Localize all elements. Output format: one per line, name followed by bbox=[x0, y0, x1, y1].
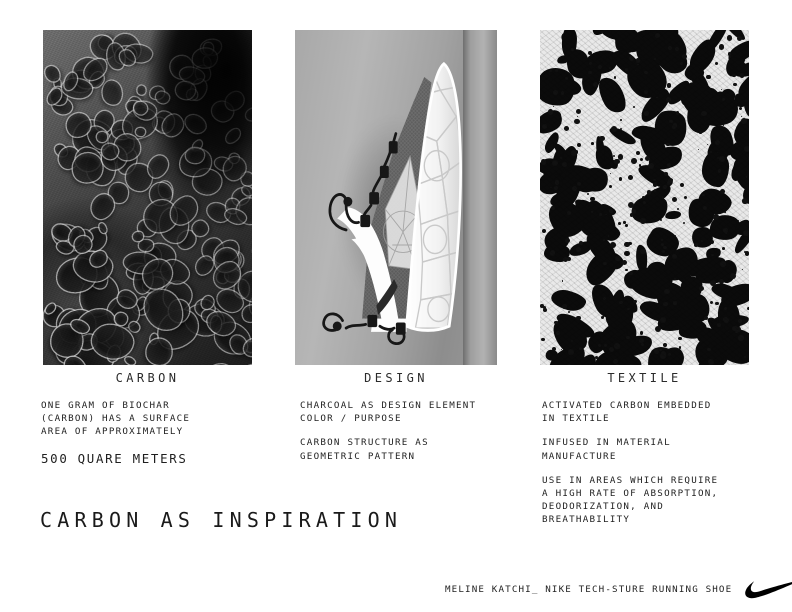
copy-block: USE IN AREAS WHICH REQUIREA HIGH RATE OF… bbox=[542, 474, 718, 527]
copy-line: COLOR / PURPOSE bbox=[300, 412, 476, 425]
image-activated-carbon-textile-macro bbox=[540, 30, 749, 365]
textile-weave-overlay bbox=[540, 30, 749, 365]
caption-carbon: CARBON bbox=[43, 371, 252, 385]
copy-column-design: CHARCOAL AS DESIGN ELEMENTCOLOR / PURPOS… bbox=[300, 399, 476, 463]
copy-line: ACTIVATED CARBON EMBEDDED bbox=[542, 399, 718, 412]
copy-line: INFUSED IN MATERIAL bbox=[542, 436, 718, 449]
copy-line: USE IN AREAS WHICH REQUIRE bbox=[542, 474, 718, 487]
copy-block: ACTIVATED CARBON EMBEDDEDIN TEXTILE bbox=[542, 399, 718, 425]
image-sem-micrograph-biochar bbox=[43, 30, 252, 365]
copy-block: INFUSED IN MATERIALMANUFACTURE bbox=[542, 436, 718, 462]
footer-credit: MELINE KATCHI_ NIKE TECH-STURE RUNNING S… bbox=[445, 584, 732, 595]
copy-line: IN TEXTILE bbox=[542, 412, 718, 425]
copy-line: DEODORIZATION, AND bbox=[542, 500, 718, 513]
image-shoe-render-lattice bbox=[295, 30, 497, 365]
copy-line: MANUFACTURE bbox=[542, 450, 718, 463]
caption-textile: TEXTILE bbox=[540, 371, 749, 385]
copy-block: ONE GRAM OF BIOCHAR(CARBON) HAS A SURFAC… bbox=[41, 399, 190, 439]
copy-line: (CARBON) HAS A SURFACE bbox=[41, 412, 190, 425]
sem-grain-overlay bbox=[43, 30, 252, 365]
copy-line: GEOMETRIC PATTERN bbox=[300, 450, 476, 463]
copy-line: BREATHABILITY bbox=[542, 513, 718, 526]
footer: MELINE KATCHI_ NIKE TECH-STURE RUNNING S… bbox=[445, 578, 792, 600]
presentation-board: CARBON DESIGN TEXTILE ONE GRAM OF BIOCHA… bbox=[0, 0, 792, 612]
copy-block: CHARCOAL AS DESIGN ELEMENTCOLOR / PURPOS… bbox=[300, 399, 476, 425]
copy-block: 500 QUARE METERS bbox=[41, 450, 190, 467]
copy-line: A HIGH RATE OF ABSORPTION, bbox=[542, 487, 718, 500]
caption-design: DESIGN bbox=[295, 371, 497, 385]
copy-line: CHARCOAL AS DESIGN ELEMENT bbox=[300, 399, 476, 412]
shoe-illustration bbox=[307, 43, 485, 355]
copy-column-textile: ACTIVATED CARBON EMBEDDEDIN TEXTILEINFUS… bbox=[542, 399, 718, 527]
copy-line: CARBON STRUCTURE AS bbox=[300, 436, 476, 449]
nike-swoosh-logo bbox=[745, 578, 792, 600]
copy-line: ONE GRAM OF BIOCHAR bbox=[41, 399, 190, 412]
copy-line: 500 QUARE METERS bbox=[41, 450, 190, 467]
page-title: CARBON AS INSPIRATION bbox=[40, 508, 402, 532]
copy-line: AREA OF APPROXIMATELY bbox=[41, 425, 190, 438]
copy-block: CARBON STRUCTURE ASGEOMETRIC PATTERN bbox=[300, 436, 476, 462]
copy-column-carbon: ONE GRAM OF BIOCHAR(CARBON) HAS A SURFAC… bbox=[41, 399, 190, 467]
